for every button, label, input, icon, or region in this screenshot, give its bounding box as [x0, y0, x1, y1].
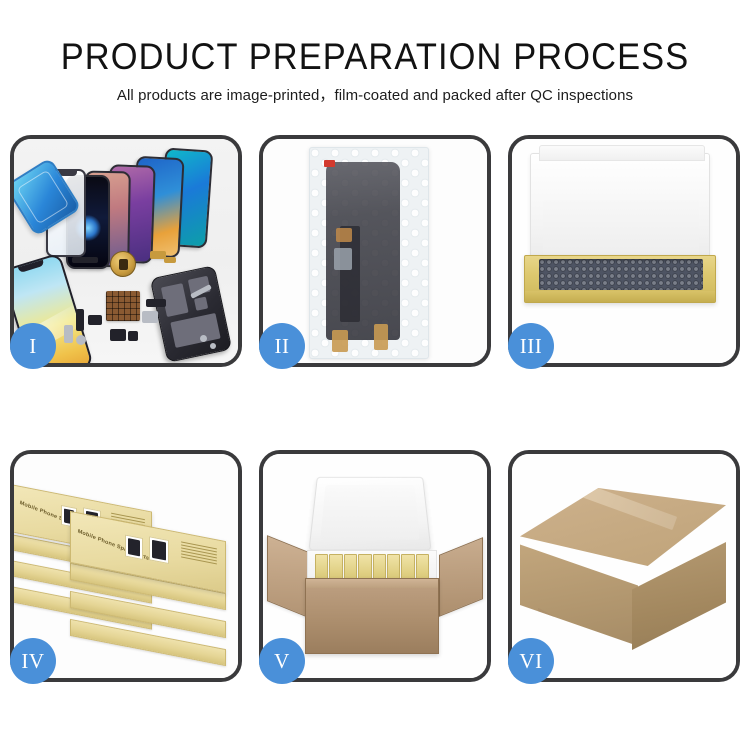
retail-box-stack: Mobile Phone Spare Parts Mobile Phone Sp… [14, 470, 238, 670]
gold-contact-part [164, 257, 176, 263]
sim-tray-part [64, 325, 73, 343]
step-badge-3: III [508, 323, 554, 369]
speaker-part-icon [110, 251, 136, 277]
step-badge-5: V [259, 638, 305, 684]
small-screw-part [200, 335, 207, 342]
header: PRODUCT PREPARATION PROCESS All products… [0, 0, 750, 106]
box-spec-lines [181, 541, 217, 566]
step-badge-4: IV [10, 638, 56, 684]
bubble-wrap-bag [309, 147, 429, 359]
chip-board-part [106, 291, 140, 321]
flex-strip-part [72, 257, 98, 263]
step-badge-6: VI [508, 638, 554, 684]
vibrator-part [110, 329, 126, 341]
button-flex-part [76, 309, 84, 331]
page-subtitle: All products are image-printed，film-coat… [6, 86, 745, 106]
foam-lid-open [308, 477, 431, 551]
tweezer-tool [190, 284, 212, 299]
sensor-flex-part [146, 299, 166, 307]
box-window-left [125, 535, 143, 560]
box-window-right [149, 536, 169, 564]
packed-product-rows [539, 259, 703, 290]
process-step-panel-3[interactable]: III [508, 135, 740, 367]
process-step-panel-6[interactable]: VI [508, 450, 740, 682]
white-foam-lid [530, 153, 710, 271]
kraft-inner-tray [524, 255, 716, 303]
sealed-carton [520, 482, 728, 652]
lcd-copper-tape [336, 228, 352, 242]
product-preparation-page: PRODUCT PREPARATION PROCESS All products… [0, 0, 750, 750]
antenna-part [88, 315, 102, 325]
screw-part [76, 335, 86, 345]
red-qc-label [324, 160, 335, 167]
lcd-connector [334, 248, 352, 270]
carton-side-tape-upper [538, 608, 554, 641]
step-badge-1: I [10, 323, 56, 369]
lcd-tape-left [332, 330, 348, 352]
process-step-panel-2[interactable]: II [259, 135, 491, 367]
step-badge-2: II [259, 323, 305, 369]
process-step-panel-5[interactable]: V [259, 450, 491, 682]
metal-bracket-part [142, 311, 158, 323]
small-screw-part [210, 343, 216, 349]
ic-chip-part [128, 331, 138, 341]
tray-front-lip [525, 291, 715, 302]
carton-seal-tape [571, 480, 677, 530]
process-step-panel-1[interactable]: I [10, 135, 242, 367]
page-title: PRODUCT PREPARATION PROCESS [26, 35, 724, 79]
process-step-panel-4[interactable]: Mobile Phone Spare Parts Mobile Phone Sp… [10, 450, 242, 682]
lcd-tape-right [374, 324, 388, 350]
carton-top-face [520, 488, 726, 566]
carton-body [305, 578, 439, 654]
process-steps-grid: I II [10, 135, 740, 682]
